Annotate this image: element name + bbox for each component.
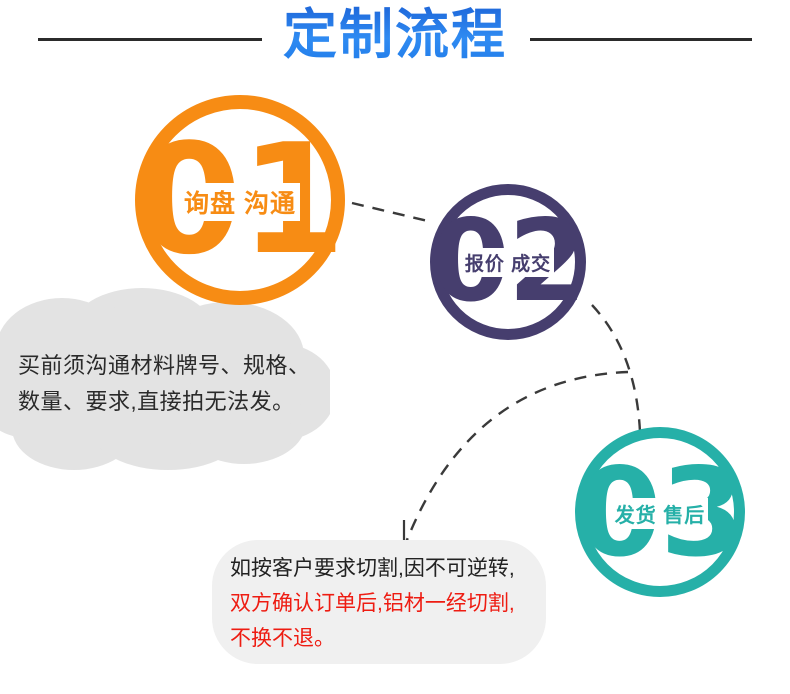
step-two-label-wrap: 报价 成交 (430, 248, 586, 277)
step-two[interactable]: 02 报价 成交 (430, 184, 586, 340)
connector-step2-step3 (592, 305, 640, 432)
step-one-label: 询盘 沟通 (180, 183, 300, 221)
step-two-label: 报价 成交 (462, 248, 554, 277)
page-header: 定制流程 (0, 0, 790, 80)
step-three-label: 发货 售后 (612, 498, 709, 529)
note-one-line-1: 买前须沟通材料牌号、规格、 (18, 348, 311, 384)
step-one[interactable]: 01 询盘 沟通 (135, 95, 345, 305)
note-two-line-2: 双方确认订单后,铝材一经切割, (230, 586, 515, 621)
page-title: 定制流程 (0, 0, 790, 70)
connector-step1-step2 (352, 203, 432, 222)
note-one-text: 买前须沟通材料牌号、规格、 数量、要求,直接拍无法发。 (18, 348, 311, 420)
note-two-text: 如按客户要求切割,因不可逆转, 双方确认订单后,铝材一经切割, 不换不退。 (230, 551, 515, 656)
step-three-label-wrap: 发货 售后 (575, 498, 745, 529)
infographic-canvas: 定制流程 买前须沟通材料牌号、规格、 数量、要求,直接拍无法发。 (0, 0, 790, 694)
note-one-line-2: 数量、要求,直接拍无法发。 (18, 384, 311, 420)
step-one-label-wrap: 询盘 沟通 (135, 183, 345, 221)
step-three[interactable]: 03 发货 售后 (575, 427, 745, 597)
note-two-line-3: 不换不退。 (230, 621, 515, 656)
note-two-line-1: 如按客户要求切割,因不可逆转, (230, 551, 515, 586)
